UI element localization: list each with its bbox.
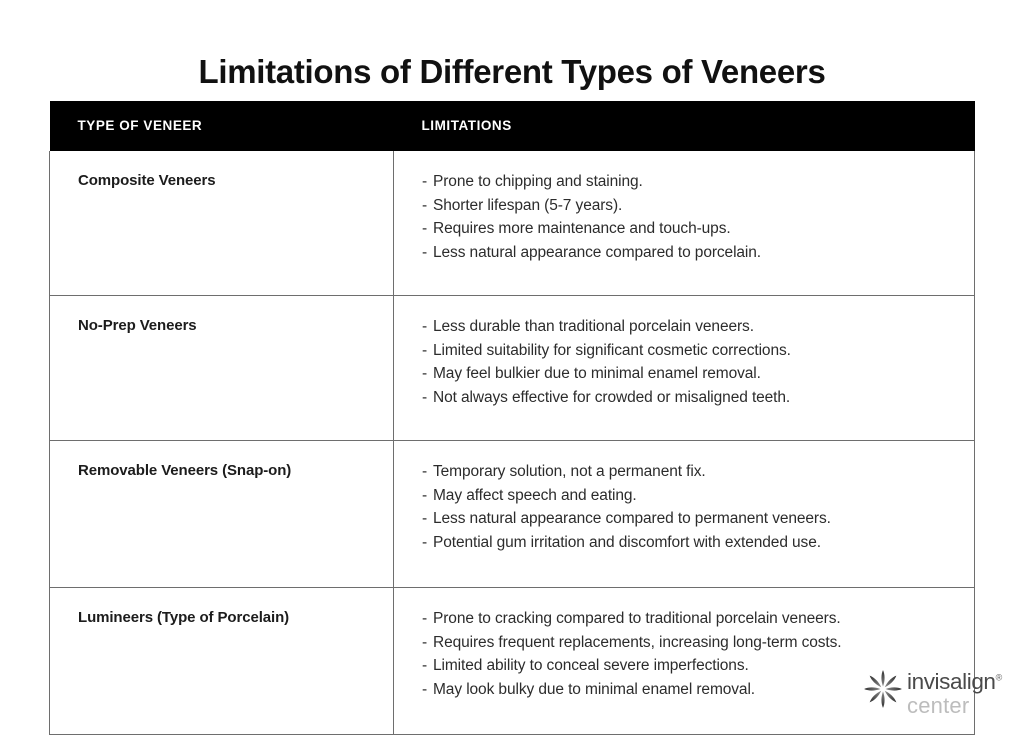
limitation-item: -Prone to cracking compared to tradition… (422, 607, 956, 631)
invisalign-center-logo: invisalign® center (862, 666, 992, 716)
limitation-item: -Prone to chipping and staining. (422, 170, 956, 194)
bullet-dash-icon: - (422, 386, 433, 410)
limitations-list: -Temporary solution, not a permanent fix… (422, 460, 956, 554)
limitation-text: May feel bulkier due to minimal enamel r… (433, 365, 761, 382)
limitation-item: -Requires more maintenance and touch-ups… (422, 217, 956, 241)
column-header-limitations: LIMITATIONS (394, 101, 975, 151)
table-row: Removable Veneers (Snap-on)-Temporary so… (50, 441, 975, 588)
limitation-text: May look bulky due to minimal enamel rem… (433, 681, 755, 698)
limitation-text: Potential gum irritation and discomfort … (433, 534, 821, 551)
bullet-dash-icon: - (422, 362, 433, 386)
cell-limitations: -Less durable than traditional porcelain… (394, 296, 975, 441)
logo-subtitle: center (907, 693, 969, 718)
limitation-item: -Limited suitability for significant cos… (422, 339, 956, 363)
cell-limitations: -Temporary solution, not a permanent fix… (394, 441, 975, 588)
limitation-item: -Requires frequent replacements, increas… (422, 631, 956, 655)
limitation-item: -Less natural appearance compared to por… (422, 241, 956, 265)
bullet-dash-icon: - (422, 654, 433, 678)
logo-wordmark: invisalign® (907, 669, 1002, 694)
bullet-dash-icon: - (422, 678, 433, 702)
bullet-dash-icon: - (422, 484, 433, 508)
bullet-dash-icon: - (422, 531, 433, 555)
starburst-icon (862, 668, 904, 710)
logo-text-block: invisalign® center (907, 666, 1024, 718)
limitation-text: Requires more maintenance and touch-ups. (433, 220, 731, 237)
limitations-list: -Less durable than traditional porcelain… (422, 315, 956, 409)
limitation-item: -Potential gum irritation and discomfort… (422, 531, 956, 555)
bullet-dash-icon: - (422, 170, 433, 194)
limitation-text: Prone to chipping and staining. (433, 173, 643, 190)
logo-wordmark-text: invisalign (907, 669, 996, 694)
bullet-dash-icon: - (422, 460, 433, 484)
table-row: Lumineers (Type of Porcelain)-Prone to c… (50, 588, 975, 735)
limitation-text: Shorter lifespan (5-7 years). (433, 197, 622, 214)
limitation-item: -Less natural appearance compared to per… (422, 507, 956, 531)
limitation-text: Limited suitability for significant cosm… (433, 342, 791, 359)
veneer-limitations-table: TYPE OF VENEER LIMITATIONS Composite Ven… (49, 101, 975, 735)
limitation-text: Limited ability to conceal severe imperf… (433, 657, 749, 674)
limitation-item: -Not always effective for crowded or mis… (422, 386, 956, 410)
column-header-type-of-veneer: TYPE OF VENEER (50, 101, 394, 151)
veneer-table-container: TYPE OF VENEER LIMITATIONS Composite Ven… (49, 101, 975, 735)
limitation-text: Prone to cracking compared to traditiona… (433, 610, 841, 627)
table-header-row: TYPE OF VENEER LIMITATIONS (50, 101, 975, 151)
bullet-dash-icon: - (422, 315, 433, 339)
cell-limitations: -Prone to chipping and staining.-Shorter… (394, 151, 975, 296)
bullet-dash-icon: - (422, 194, 433, 218)
table-body: Composite Veneers-Prone to chipping and … (50, 151, 975, 735)
bullet-dash-icon: - (422, 607, 433, 631)
bullet-dash-icon: - (422, 507, 433, 531)
limitation-text: Less durable than traditional porcelain … (433, 318, 754, 335)
limitation-item: -May affect speech and eating. (422, 484, 956, 508)
bullet-dash-icon: - (422, 339, 433, 363)
limitation-text: May affect speech and eating. (433, 487, 637, 504)
table-row: No-Prep Veneers-Less durable than tradit… (50, 296, 975, 441)
bullet-dash-icon: - (422, 241, 433, 265)
page-root: Limitations of Different Types of Veneer… (0, 0, 1024, 728)
limitation-item: -May feel bulkier due to minimal enamel … (422, 362, 956, 386)
limitation-text: Temporary solution, not a permanent fix. (433, 463, 706, 480)
limitation-item: -Temporary solution, not a permanent fix… (422, 460, 956, 484)
limitation-text: Less natural appearance compared to perm… (433, 510, 831, 527)
limitation-item: -Less durable than traditional porcelain… (422, 315, 956, 339)
limitation-item: -Shorter lifespan (5-7 years). (422, 194, 956, 218)
bullet-dash-icon: - (422, 631, 433, 655)
limitation-text: Not always effective for crowded or misa… (433, 389, 790, 406)
cell-veneer-type: Lumineers (Type of Porcelain) (50, 588, 394, 735)
limitation-text: Less natural appearance compared to porc… (433, 244, 761, 261)
registered-trademark-icon: ® (996, 672, 1002, 682)
cell-veneer-type: No-Prep Veneers (50, 296, 394, 441)
limitations-list: -Prone to chipping and staining.-Shorter… (422, 170, 956, 264)
bullet-dash-icon: - (422, 217, 433, 241)
cell-veneer-type: Composite Veneers (50, 151, 394, 296)
table-header: TYPE OF VENEER LIMITATIONS (50, 101, 975, 151)
cell-veneer-type: Removable Veneers (Snap-on) (50, 441, 394, 588)
limitation-text: Requires frequent replacements, increasi… (433, 634, 842, 651)
table-row: Composite Veneers-Prone to chipping and … (50, 151, 975, 296)
page-title: Limitations of Different Types of Veneer… (0, 50, 1024, 94)
